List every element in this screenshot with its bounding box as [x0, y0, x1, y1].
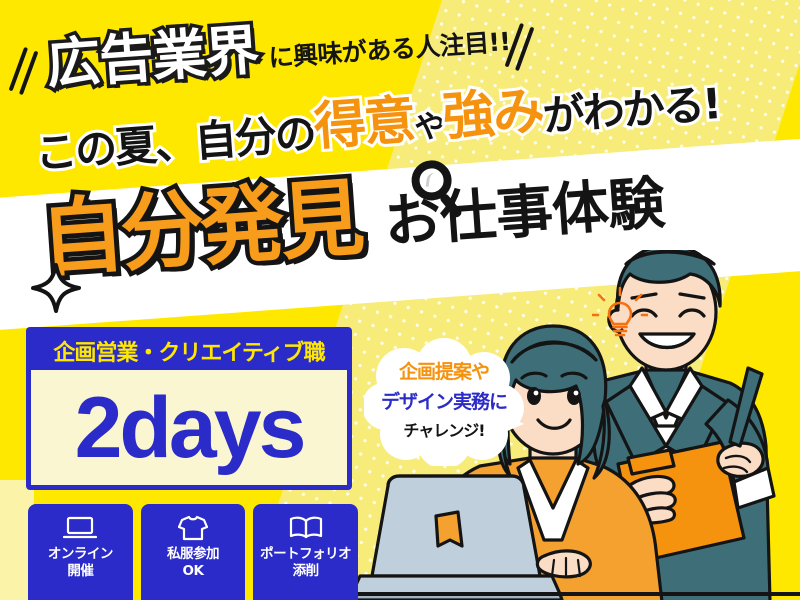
- badge-portfolio[interactable]: ポートフォリオ添削: [253, 504, 358, 600]
- job-category-label: 企画営業・クリエイティブ職: [31, 332, 347, 370]
- speech-bubble: 企画提案や デザイン実務に チャレンジ!: [364, 338, 524, 466]
- headline-industry: 広告業界: [45, 23, 260, 92]
- job-info-box: 企画営業・クリエイティブ職 2days: [26, 327, 352, 490]
- badge-dress-code[interactable]: 私服参加OK: [141, 504, 246, 600]
- badge-portfolio-label: ポートフォリオ添削: [260, 546, 351, 580]
- tshirt-icon: [175, 515, 211, 541]
- lightbulb-icon: [592, 286, 648, 340]
- bubble-line-3: チャレンジ!: [403, 417, 484, 441]
- sparkle-icon: [30, 262, 82, 314]
- open-book-icon: [288, 515, 324, 541]
- badge-online[interactable]: オンライン開催: [28, 504, 133, 600]
- duration-panel: 2days: [31, 370, 347, 485]
- headline-main-title: 自分発見: [38, 176, 363, 282]
- bubble-line-2: デザイン実務に: [381, 387, 507, 414]
- headline-line2-part-4: 強み: [441, 84, 545, 146]
- feature-badges: オンライン開催 私服参加OK ポートフォリオ添削: [28, 504, 358, 600]
- badge-online-label: オンライン開催: [48, 546, 113, 580]
- headline-line2-part-2: 得意: [312, 93, 416, 155]
- badge-dress-code-label: 私服参加OK: [167, 546, 219, 580]
- headline-line2-part-3: や: [413, 110, 445, 148]
- duration-value: 2days: [75, 385, 304, 471]
- banner-root: 広告業界 に興味がある人注目!! この夏、自分の 得意 や 強み がわかる! 自…: [0, 0, 800, 600]
- laptop-icon: [62, 515, 98, 541]
- magnifier-icon: [410, 158, 466, 214]
- bubble-line-1: 企画提案や: [399, 357, 489, 384]
